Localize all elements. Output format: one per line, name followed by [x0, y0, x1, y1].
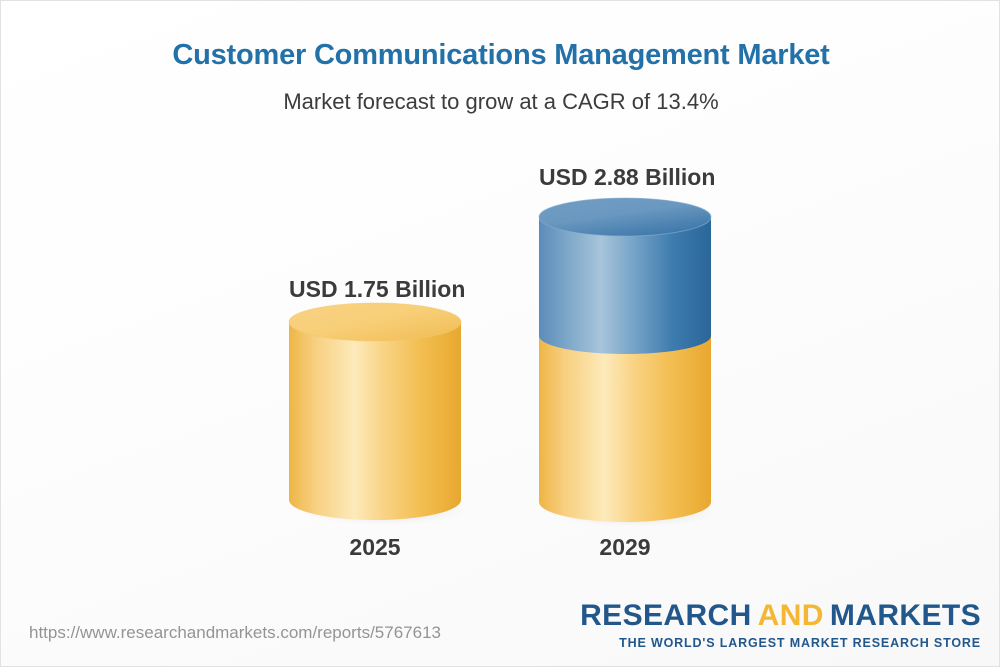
brand-logo: RESEARCHANDMARKETS THE WORLD'S LARGEST M…: [580, 601, 981, 650]
page-title: Customer Communications Management Marke…: [1, 39, 1000, 72]
bar-cylinder-2025: [289, 306, 471, 526]
category-label-2025: 2025: [289, 534, 461, 561]
chart-canvas: Customer Communications Management Marke…: [0, 0, 1000, 667]
brand-tagline: THE WORLD'S LARGEST MARKET RESEARCH STOR…: [580, 636, 981, 650]
chart-subtitle: Market forecast to grow at a CAGR of 13.…: [1, 89, 1000, 115]
category-label-2029: 2029: [539, 534, 711, 561]
value-label-2029: USD 2.88 Billion: [539, 164, 711, 191]
value-label-2025: USD 1.75 Billion: [289, 276, 461, 303]
source-url[interactable]: https://www.researchandmarkets.com/repor…: [29, 623, 441, 643]
brand-word-research: RESEARCH: [580, 599, 752, 632]
brand-word-and: AND: [758, 599, 824, 632]
bar-cylinder-2029: [539, 198, 721, 528]
brand-name: RESEARCHANDMARKETS: [580, 601, 981, 631]
brand-word-markets: MARKETS: [830, 599, 981, 632]
